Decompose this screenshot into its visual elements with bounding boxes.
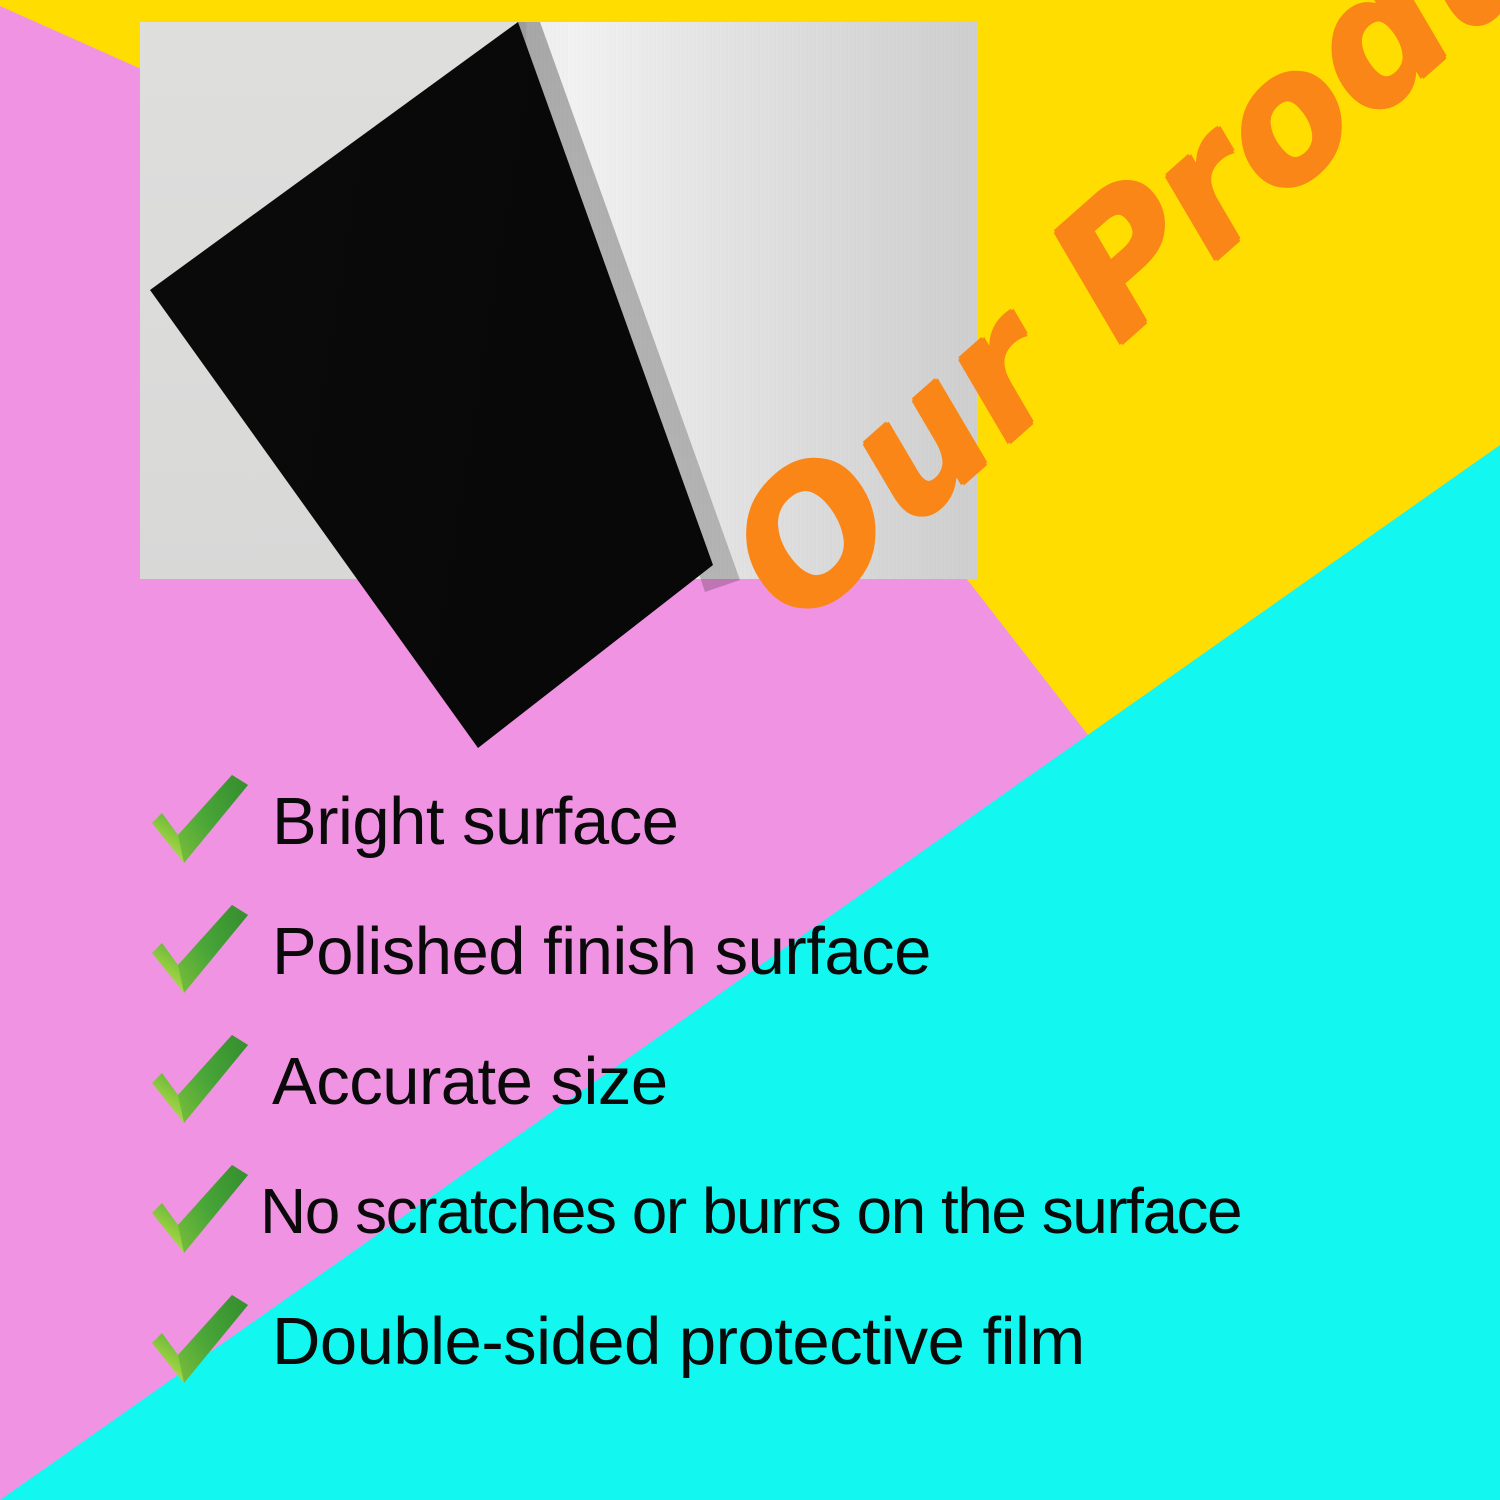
list-item-label: Double-sided protective film <box>252 1308 1085 1375</box>
list-item: Polished finish surface <box>148 886 1478 1016</box>
feature-list: Bright surface <box>148 756 1478 1406</box>
list-item: Accurate size <box>148 1016 1478 1146</box>
check-icon <box>148 775 252 867</box>
list-item-label: No scratches or burrs on the surface <box>252 1179 1241 1243</box>
check-icon <box>148 1295 252 1387</box>
list-item-label: Bright surface <box>252 788 678 855</box>
list-item: Bright surface <box>148 756 1478 886</box>
product-feature-banner: Our Product <box>0 0 1500 1500</box>
list-item-label: Polished finish surface <box>252 918 931 985</box>
list-item: Double-sided protective film <box>148 1276 1478 1406</box>
check-icon <box>148 1035 252 1127</box>
list-item: No scratches or burrs on the surface <box>148 1146 1478 1276</box>
list-item-label: Accurate size <box>252 1048 668 1115</box>
check-icon <box>148 1165 252 1257</box>
check-icon <box>148 905 252 997</box>
